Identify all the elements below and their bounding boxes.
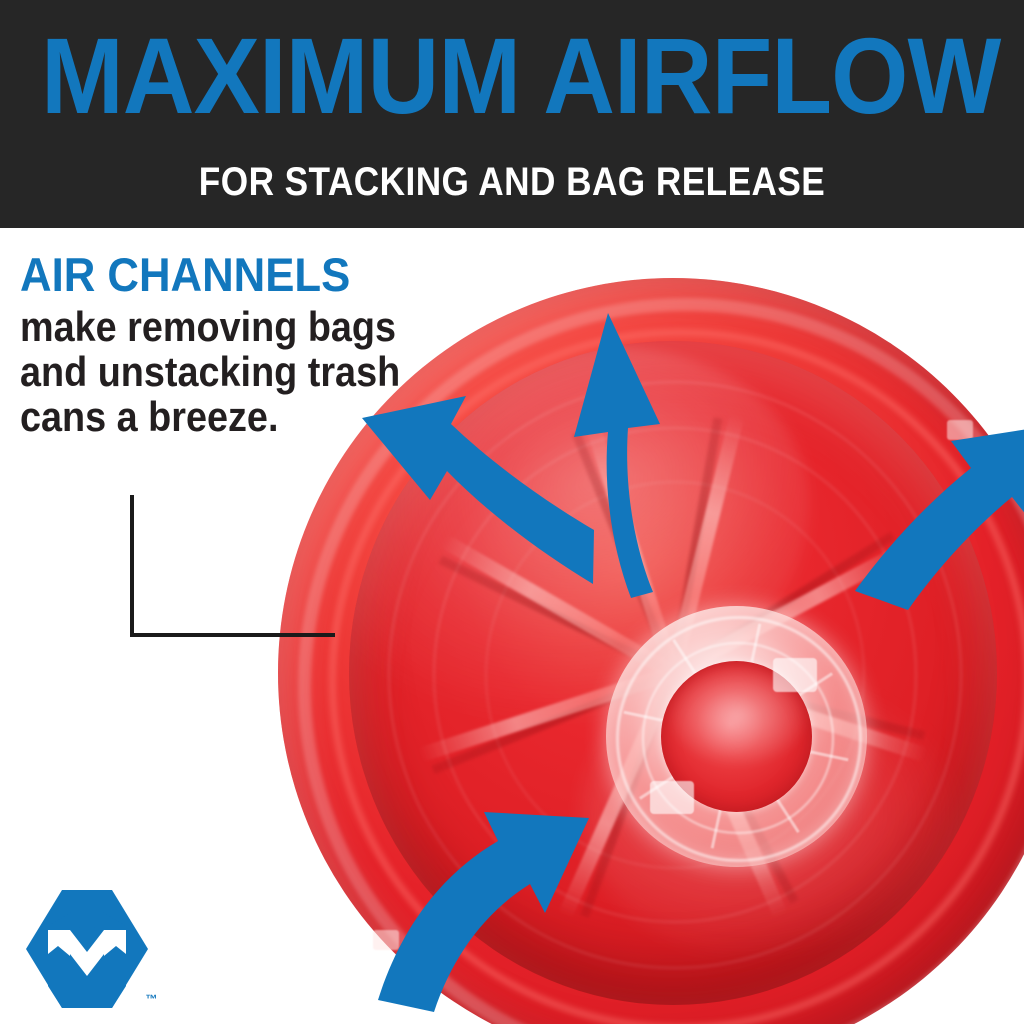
page-title: MAXIMUM AIRFLOW [41, 22, 983, 130]
callout-air-channels: AIR CHANNELS make removing bags and unst… [20, 250, 420, 439]
callout-body-line-2: and unstacking trash [20, 349, 380, 394]
hub-notch-lower-left [650, 781, 694, 815]
infographic-canvas: MAXIMUM AIRFLOW FOR STACKING AND BAG REL… [0, 0, 1024, 1024]
hub-notch-upper-right [773, 658, 817, 692]
callout-body-line-1: make removing bags [20, 304, 380, 349]
can-center-hub [606, 606, 867, 867]
trademark-symbol: ™ [146, 992, 159, 1006]
callout-heading: AIR CHANNELS [20, 250, 392, 300]
callout-body: make removing bags and unstacking trash … [20, 304, 380, 439]
header-band: MAXIMUM AIRFLOW FOR STACKING AND BAG REL… [0, 0, 1024, 228]
can-foot-tab-left [373, 930, 399, 950]
brand-logo[interactable]: ™ [22, 886, 152, 1012]
m-hexagon-icon [22, 886, 152, 1012]
leader-line-vertical [130, 495, 134, 637]
leader-line-horizontal [130, 633, 335, 637]
page-subtitle: FOR STACKING AND BAG RELEASE [61, 160, 962, 204]
can-foot-tab-right [947, 420, 973, 440]
callout-body-line-3: cans a breeze. [20, 394, 380, 439]
